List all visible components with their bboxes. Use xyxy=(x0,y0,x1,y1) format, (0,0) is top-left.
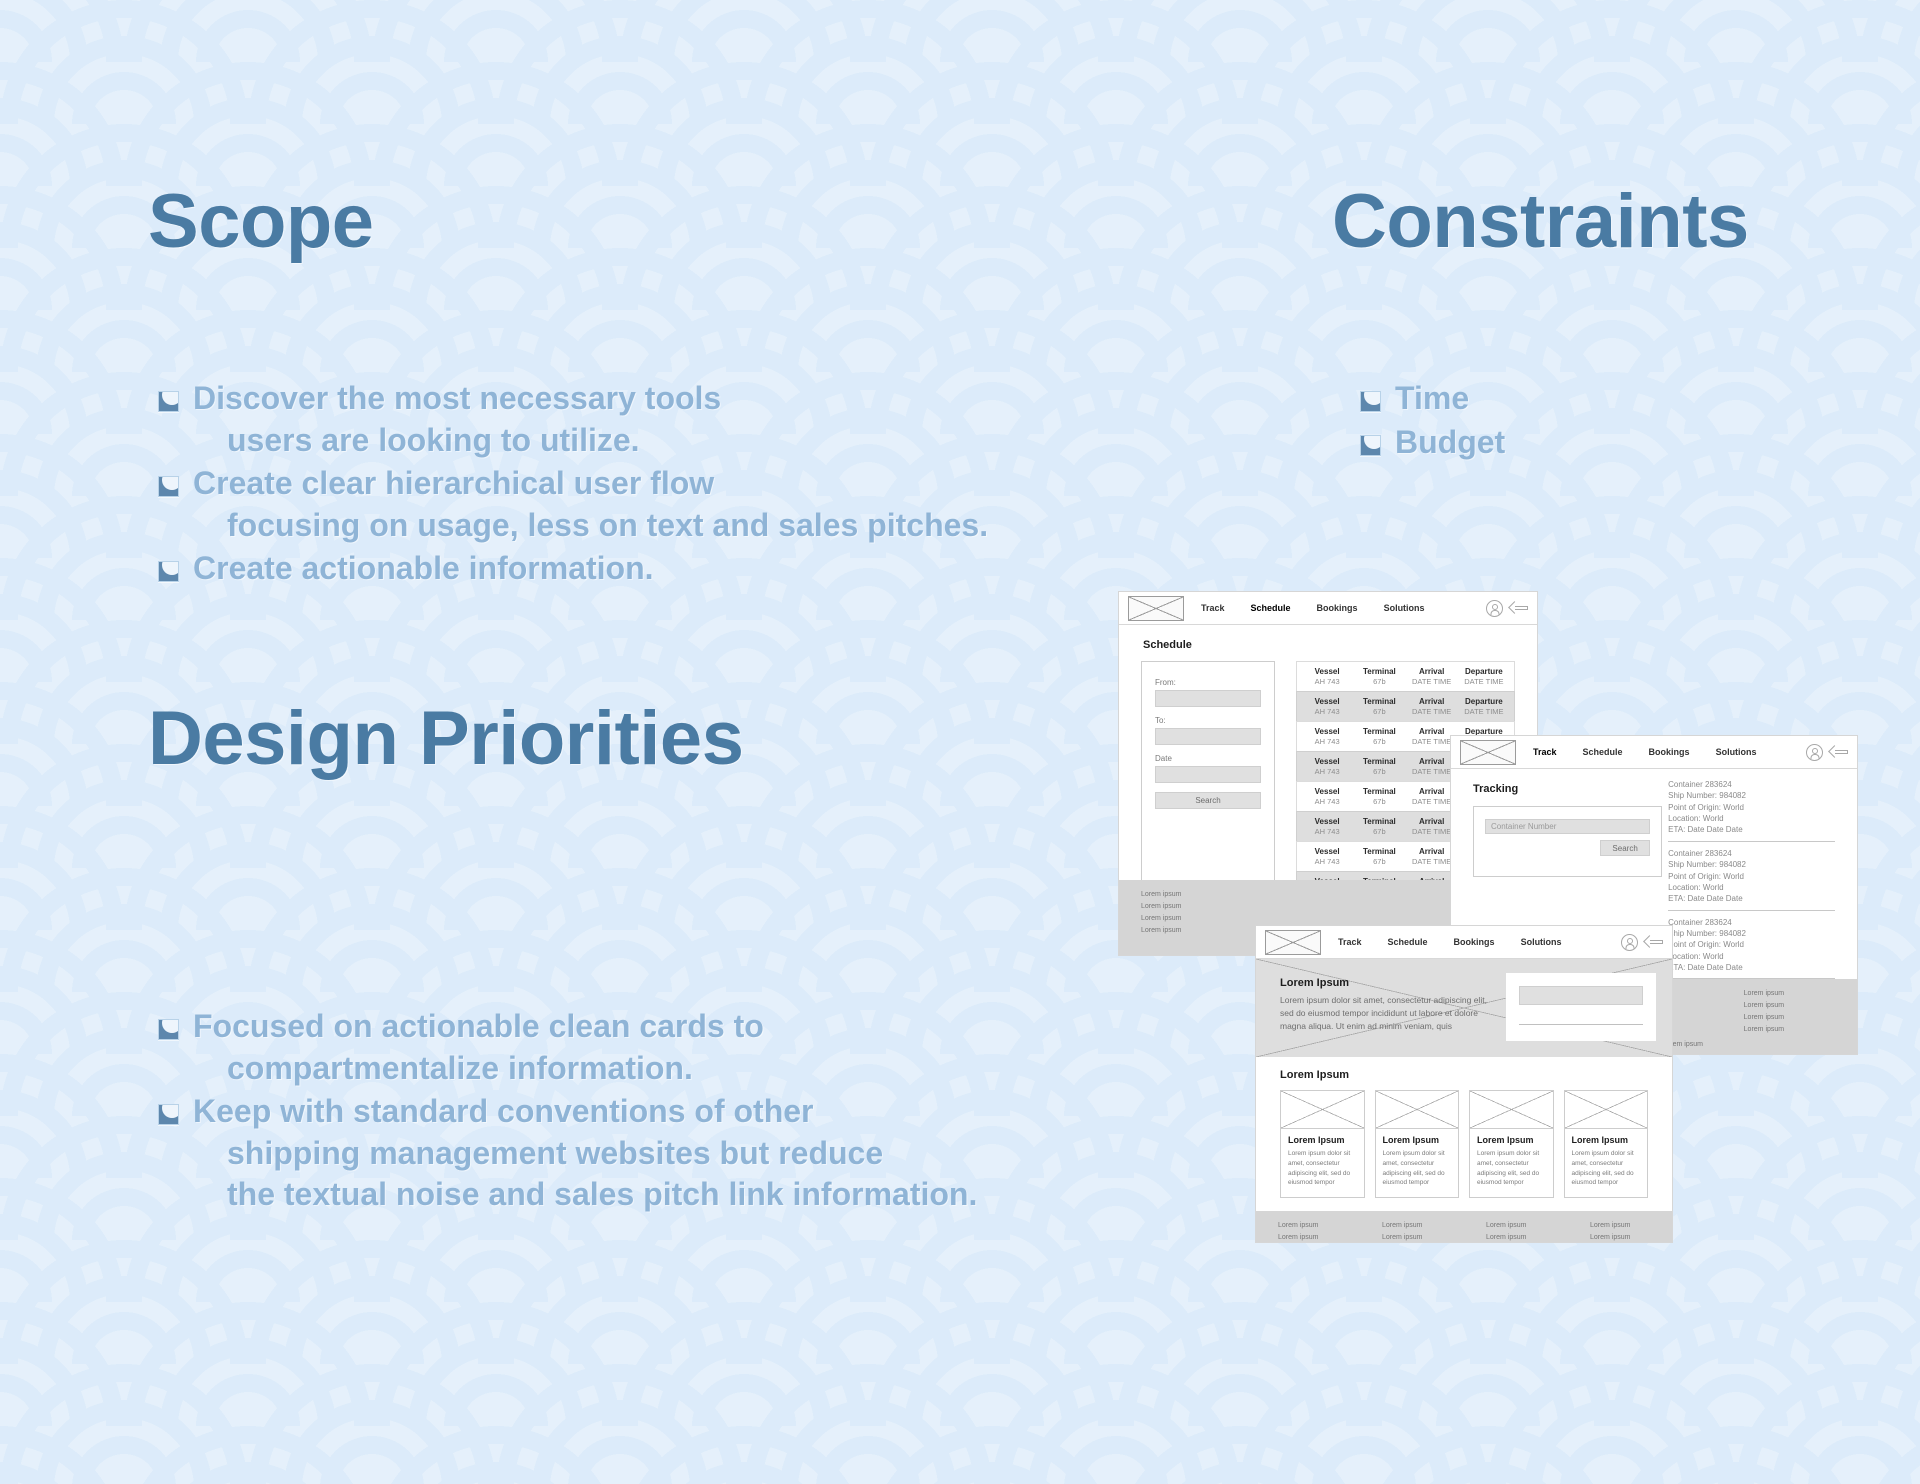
cards-grid: Lorem Ipsum Lorem ipsum dolor sit amet, … xyxy=(1256,1090,1672,1198)
footer-link[interactable]: Lorem ipsum xyxy=(1382,1234,1464,1241)
schedule-search-form: From: To: Date Search xyxy=(1141,661,1275,902)
col-header: Terminal xyxy=(1353,817,1405,826)
hero-body: Lorem ipsum dolor sit amet, consectetur … xyxy=(1280,994,1497,1034)
cell-value: 67b xyxy=(1353,857,1405,866)
bullet-text: Create actionable information. xyxy=(193,548,654,590)
footer-link[interactable]: Lorem ipsum xyxy=(1382,1222,1464,1229)
footer-link[interactable]: Lorem ipsum xyxy=(1278,1222,1360,1229)
col-header: Terminal xyxy=(1353,787,1405,796)
nav-links: Track Schedule Bookings Solutions xyxy=(1201,603,1451,613)
nav-link-schedule[interactable]: Schedule xyxy=(1388,937,1428,947)
bullet-text: Keep with standard conventions of other … xyxy=(193,1091,977,1216)
col-header: Vessel xyxy=(1301,697,1353,706)
footer-link[interactable]: Lorem ipsum xyxy=(1141,891,1258,898)
col-header: Departure xyxy=(1458,667,1510,676)
to-input[interactable] xyxy=(1155,728,1261,745)
col-header: Terminal xyxy=(1353,847,1405,856)
to-label: To: xyxy=(1155,716,1261,725)
checked-box-icon xyxy=(1360,435,1381,456)
bullet-line: compartmentalize information. xyxy=(193,1048,764,1090)
col-header: Arrival xyxy=(1406,667,1458,676)
cards-section-title: Lorem Ipsum xyxy=(1280,1069,1672,1081)
ship-number: Ship Number: 984082 xyxy=(1668,790,1835,801)
footer-link[interactable]: Lorem ipsum xyxy=(1744,1014,1857,1021)
date-input[interactable] xyxy=(1155,766,1261,783)
footer-link[interactable]: Lorem ipsum xyxy=(1744,1002,1857,1009)
footer-link[interactable]: Lorem ipsum xyxy=(1486,1222,1568,1229)
cell-value: 67b xyxy=(1353,707,1405,716)
nav-link-schedule[interactable]: Schedule xyxy=(1583,747,1623,757)
footer-column: Lorem ipsum Lorem ipsum Lorem ipsum Lore… xyxy=(1464,1222,1568,1243)
cell-vessel: VesselAH 743 xyxy=(1301,787,1353,806)
wireframe-navbar: Track Schedule Bookings Solutions xyxy=(1256,926,1672,959)
bullet-text: Time xyxy=(1395,378,1469,420)
cell-arrival: ArrivalDATE TIME xyxy=(1406,697,1458,716)
eta: ETA: Date Date Date xyxy=(1668,893,1835,904)
footer-link[interactable]: Lorem ipsum xyxy=(1744,990,1857,997)
bullet-text: Budget xyxy=(1395,422,1505,464)
cell-terminal: Terminal67b xyxy=(1353,817,1405,836)
table-row[interactable]: VesselAH 743 Terminal67b ArrivalDATE TIM… xyxy=(1296,691,1515,721)
account-circle-icon[interactable] xyxy=(1486,600,1503,617)
cell-value: DATE TIME xyxy=(1458,677,1510,686)
nav-link-bookings[interactable]: Bookings xyxy=(1454,937,1495,947)
list-item[interactable]: Lorem Ipsum Lorem ipsum dolor sit amet, … xyxy=(1280,1090,1365,1198)
cell-vessel: VesselAH 743 xyxy=(1301,667,1353,686)
card-body: Lorem Ipsum Lorem ipsum dolor sit amet, … xyxy=(1281,1129,1364,1197)
logo-placeholder-icon xyxy=(1128,596,1184,621)
list-item[interactable]: Container 283624 Ship Number: 984082 Poi… xyxy=(1668,848,1835,911)
col-header: Vessel xyxy=(1301,817,1353,826)
nav-right-actions xyxy=(1621,934,1663,951)
list-item[interactable]: Lorem Ipsum Lorem ipsum dolor sit amet, … xyxy=(1564,1090,1649,1198)
cell-departure: DepartureDATE TIME xyxy=(1458,667,1510,686)
cell-value: AH 743 xyxy=(1301,797,1353,806)
cell-terminal: Terminal67b xyxy=(1353,727,1405,746)
image-placeholder-cross-icon xyxy=(1376,1091,1459,1129)
cell-terminal: Terminal67b xyxy=(1353,847,1405,866)
nav-links: Track Schedule Bookings Solutions xyxy=(1338,937,1588,947)
eta: ETA: Date Date Date xyxy=(1668,962,1835,973)
cell-terminal: Terminal67b xyxy=(1353,697,1405,716)
logo-placeholder-icon xyxy=(1460,740,1516,765)
bullet-line: users are looking to utilize. xyxy=(193,420,721,462)
cell-value: DATE TIME xyxy=(1458,707,1510,716)
col-header: Vessel xyxy=(1301,757,1353,766)
checked-box-icon xyxy=(158,561,179,582)
bullet-text: Create clear hierarchical user flow focu… xyxy=(193,463,988,546)
bullet-line: shipping management websites but reduce xyxy=(193,1133,977,1175)
card-title: Lorem Ipsum xyxy=(1288,1135,1357,1145)
cell-vessel: VesselAH 743 xyxy=(1301,817,1353,836)
card-text: Lorem ipsum dolor sit amet, consectetur … xyxy=(1288,1149,1357,1188)
col-header: Terminal xyxy=(1353,697,1405,706)
hero-banner: Lorem Ipsum Lorem ipsum dolor sit amet, … xyxy=(1256,959,1672,1057)
cell-value: 67b xyxy=(1353,737,1405,746)
nav-link-solutions[interactable]: Solutions xyxy=(1716,747,1757,757)
list-item: Focused on actionable clean cards to com… xyxy=(158,1006,1258,1089)
search-button[interactable]: Search xyxy=(1600,840,1650,856)
footer-link[interactable]: Lorem ipsum xyxy=(1744,1026,1857,1033)
cell-value: 67b xyxy=(1353,767,1405,776)
back-arrow-icon[interactable] xyxy=(1645,936,1663,948)
tracking-search-box: Container Number Search xyxy=(1473,806,1662,877)
card-text: Lorem ipsum dolor sit amet, consectetur … xyxy=(1572,1149,1641,1188)
cell-terminal: Terminal67b xyxy=(1353,757,1405,776)
constraints-bullet-list: Time Budget xyxy=(1360,378,1780,465)
date-label: Date xyxy=(1155,754,1261,763)
page-title: Schedule xyxy=(1143,639,1537,651)
list-item: Create actionable information. xyxy=(158,548,1218,590)
footer-link[interactable]: Lorem ipsum xyxy=(1278,1234,1360,1241)
nav-link-solutions[interactable]: Solutions xyxy=(1521,937,1562,947)
col-header: Arrival xyxy=(1406,697,1458,706)
cell-value: AH 743 xyxy=(1301,827,1353,836)
footer-link[interactable]: Lorem ipsum xyxy=(1486,1234,1568,1241)
wireframe-content-page: Track Schedule Bookings Solutions Lorem … xyxy=(1255,925,1673,1243)
image-placeholder-cross-icon xyxy=(1470,1091,1553,1129)
hero-side-card xyxy=(1506,973,1656,1041)
col-header: Terminal xyxy=(1353,757,1405,766)
list-item[interactable]: Container 283624 Ship Number: 984082 Poi… xyxy=(1668,779,1835,842)
list-item: Time xyxy=(1360,378,1780,420)
account-circle-icon[interactable] xyxy=(1806,744,1823,761)
col-header: Departure xyxy=(1458,697,1510,706)
checked-box-icon xyxy=(158,391,179,412)
cell-value: AH 743 xyxy=(1301,857,1353,866)
container-id: Container 283624 xyxy=(1668,779,1835,790)
ship-number: Ship Number: 984082 xyxy=(1668,928,1835,939)
image-placeholder-cross-icon xyxy=(1565,1091,1648,1129)
checked-box-icon xyxy=(158,476,179,497)
cell-vessel: VesselAH 743 xyxy=(1301,847,1353,866)
footer-link[interactable]: Lorem ipsum xyxy=(1590,1234,1672,1241)
scope-bullet-list: Discover the most necessary tools users … xyxy=(158,378,1218,592)
bullet-line: the textual noise and sales pitch link i… xyxy=(193,1174,977,1216)
footer-link[interactable]: Lorem ipsum xyxy=(1141,915,1258,922)
cell-terminal: Terminal67b xyxy=(1353,787,1405,806)
card-body: Lorem Ipsum Lorem ipsum dolor sit amet, … xyxy=(1565,1129,1648,1197)
cell-value: 67b xyxy=(1353,827,1405,836)
card-title: Lorem Ipsum xyxy=(1383,1135,1452,1145)
ship-number: Ship Number: 984082 xyxy=(1668,859,1835,870)
nav-link-track[interactable]: Track xyxy=(1201,603,1225,613)
nav-links: Track Schedule Bookings Solutions xyxy=(1533,747,1783,757)
point-of-origin: Point of Origin: World xyxy=(1668,802,1835,813)
col-header: Vessel xyxy=(1301,847,1353,856)
from-input[interactable] xyxy=(1155,690,1261,707)
back-arrow-icon[interactable] xyxy=(1510,602,1528,614)
checked-box-icon xyxy=(1360,391,1381,412)
tracking-results-list: Container 283624 Ship Number: 984082 Poi… xyxy=(1662,769,1857,985)
checked-box-icon xyxy=(158,1104,179,1125)
cell-departure: DepartureDATE TIME xyxy=(1458,697,1510,716)
nav-link-schedule[interactable]: Schedule xyxy=(1251,603,1291,613)
from-label: From: xyxy=(1155,678,1261,687)
eta: ETA: Date Date Date xyxy=(1668,824,1835,835)
list-item: Keep with standard conventions of other … xyxy=(158,1091,1258,1216)
constraints-title: Constraints xyxy=(1332,178,1749,265)
table-row[interactable]: VesselAH 743 Terminal67b ArrivalDATE TIM… xyxy=(1296,661,1515,691)
container-id: Container 283624 xyxy=(1668,917,1835,928)
card-text: Lorem ipsum dolor sit amet, consectetur … xyxy=(1477,1149,1546,1188)
container-id: Container 283624 xyxy=(1668,848,1835,859)
page-title: Tracking xyxy=(1473,783,1662,795)
col-header: Vessel xyxy=(1301,727,1353,736)
bullet-line: Focused on actionable clean cards to xyxy=(193,1008,764,1044)
cell-value: AH 743 xyxy=(1301,737,1353,746)
col-header: Vessel xyxy=(1301,667,1353,676)
cell-value: DATE TIME xyxy=(1406,677,1458,686)
footer-link[interactable]: Lorem ipsum xyxy=(1590,1222,1672,1229)
card-title: Lorem Ipsum xyxy=(1477,1135,1546,1145)
cell-value: AH 743 xyxy=(1301,707,1353,716)
cell-value: 67b xyxy=(1353,797,1405,806)
hero-input-placeholder[interactable] xyxy=(1519,986,1643,1005)
card-title: Lorem Ipsum xyxy=(1572,1135,1641,1145)
col-header: Terminal xyxy=(1353,727,1405,736)
container-number-input[interactable]: Container Number xyxy=(1485,819,1650,834)
nav-link-solutions[interactable]: Solutions xyxy=(1384,603,1425,613)
col-header: Terminal xyxy=(1353,667,1405,676)
design-priorities-bullet-list: Focused on actionable clean cards to com… xyxy=(158,1006,1258,1218)
nav-right-actions xyxy=(1806,744,1848,761)
list-item[interactable]: Container 283624 Ship Number: 984082 Poi… xyxy=(1668,917,1835,980)
search-button[interactable]: Search xyxy=(1155,792,1261,809)
list-item[interactable]: Lorem Ipsum Lorem ipsum dolor sit amet, … xyxy=(1375,1090,1460,1198)
footer-column: Lorem ipsum Lorem ipsum Lorem ipsum Lore… xyxy=(1360,1222,1464,1243)
nav-link-bookings[interactable]: Bookings xyxy=(1317,603,1358,613)
list-item: Budget xyxy=(1360,422,1780,464)
card-body: Lorem Ipsum Lorem ipsum dolor sit amet, … xyxy=(1376,1129,1459,1197)
location: Location: World xyxy=(1668,813,1835,824)
footer-columns: Lorem ipsum Lorem ipsum Lorem ipsum Lore… xyxy=(1256,1222,1672,1243)
nav-link-bookings[interactable]: Bookings xyxy=(1649,747,1690,757)
point-of-origin: Point of Origin: World xyxy=(1668,939,1835,950)
cell-vessel: VesselAH 743 xyxy=(1301,727,1353,746)
bullet-line: Keep with standard conventions of other xyxy=(193,1093,814,1129)
footer-link[interactable]: Lorem ipsum xyxy=(1141,927,1258,934)
list-item: Discover the most necessary tools users … xyxy=(158,378,1218,461)
nav-right-actions xyxy=(1486,600,1528,617)
account-circle-icon[interactable] xyxy=(1621,934,1638,951)
wireframe-navbar: Track Schedule Bookings Solutions xyxy=(1119,592,1537,625)
hero-inner: Lorem Ipsum Lorem ipsum dolor sit amet, … xyxy=(1256,973,1672,1041)
checked-box-icon xyxy=(158,1019,179,1040)
location: Location: World xyxy=(1668,882,1835,893)
footer-column: Lorem ipsum Lorem ipsum Lorem ipsum Lore… xyxy=(1568,1222,1672,1243)
point-of-origin: Point of Origin: World xyxy=(1668,871,1835,882)
hero-text: Lorem Ipsum Lorem ipsum dolor sit amet, … xyxy=(1256,973,1497,1041)
image-placeholder-cross-icon xyxy=(1281,1091,1364,1129)
back-arrow-icon[interactable] xyxy=(1830,746,1848,758)
logo-placeholder-icon xyxy=(1265,930,1321,955)
cell-value: AH 743 xyxy=(1301,767,1353,776)
wireframe-navbar: Track Schedule Bookings Solutions xyxy=(1451,736,1857,769)
bullet-line: focusing on usage, less on text and sale… xyxy=(193,505,988,547)
cell-value: DATE TIME xyxy=(1406,707,1458,716)
col-header: Vessel xyxy=(1301,787,1353,796)
bullet-line: Discover the most necessary tools xyxy=(193,380,721,416)
footer-link[interactable]: Lorem ipsum xyxy=(1141,903,1258,910)
hero-title: Lorem Ipsum xyxy=(1280,977,1497,989)
bullet-text: Focused on actionable clean cards to com… xyxy=(193,1006,764,1089)
footer-column: Lorem ipsum Lorem ipsum Lorem ipsum Lore… xyxy=(1722,990,1857,1038)
cell-value: 67b xyxy=(1353,677,1405,686)
bullet-line: Create actionable information. xyxy=(193,550,654,586)
footer-column: Lorem ipsum Lorem ipsum Lorem ipsum Lore… xyxy=(1256,1222,1360,1243)
footer-column: Lorem ipsum Lorem ipsum Lorem ipsum Lore… xyxy=(1119,891,1258,939)
design-priorities-title: Design Priorities xyxy=(148,695,743,782)
bullet-text: Discover the most necessary tools users … xyxy=(193,378,721,461)
divider xyxy=(1519,1024,1643,1025)
cards-section: Lorem Ipsum Lorem Ipsum Lorem ipsum dolo… xyxy=(1256,1057,1672,1211)
nav-link-track[interactable]: Track xyxy=(1338,937,1362,947)
scope-title: Scope xyxy=(148,178,374,265)
cell-arrival: ArrivalDATE TIME xyxy=(1406,667,1458,686)
card-text: Lorem ipsum dolor sit amet, consectetur … xyxy=(1383,1149,1452,1188)
wireframe-footer: Lorem ipsum Lorem ipsum Lorem ipsum Lore… xyxy=(1256,1211,1672,1243)
card-body: Lorem Ipsum Lorem ipsum dolor sit amet, … xyxy=(1470,1129,1553,1197)
cell-terminal: Terminal67b xyxy=(1353,667,1405,686)
list-item: Create clear hierarchical user flow focu… xyxy=(158,463,1218,546)
cell-value: AH 743 xyxy=(1301,677,1353,686)
bullet-line: Create clear hierarchical user flow xyxy=(193,465,714,501)
cell-vessel: VesselAH 743 xyxy=(1301,757,1353,776)
list-item[interactable]: Lorem Ipsum Lorem ipsum dolor sit amet, … xyxy=(1469,1090,1554,1198)
nav-link-track[interactable]: Track xyxy=(1533,747,1557,757)
location: Location: World xyxy=(1668,951,1835,962)
cell-vessel: VesselAH 743 xyxy=(1301,697,1353,716)
